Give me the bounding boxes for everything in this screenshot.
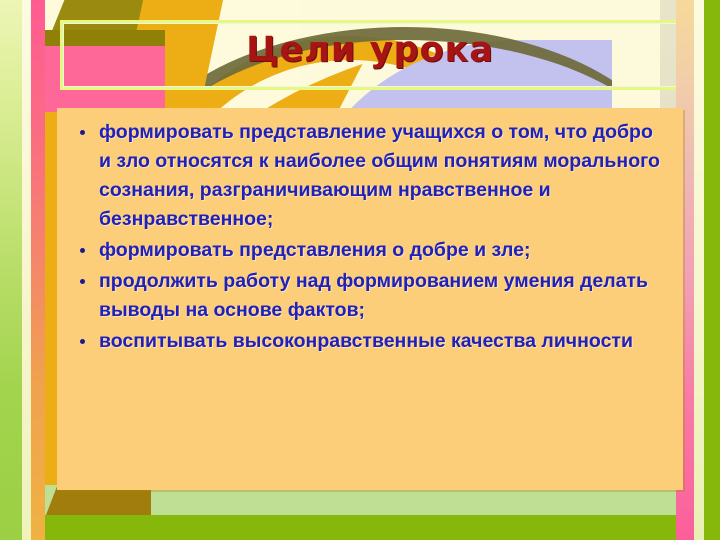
- slide-canvas: Цели урока формировать представление уча…: [0, 0, 720, 540]
- content-box: формировать представление учащихся о том…: [57, 108, 683, 490]
- border-left-green-strip: [0, 0, 22, 540]
- list-item: формировать представления о добре и зле;: [71, 236, 669, 265]
- border-right-cream-strip: [694, 0, 704, 540]
- objectives-list: формировать представление учащихся о том…: [57, 108, 683, 356]
- border-left-cream-strip: [22, 0, 31, 540]
- slide-title: Цели урока: [60, 30, 680, 70]
- decoration-dark-green-band: [0, 515, 704, 540]
- border-right-green-strip: [704, 0, 720, 540]
- border-left-pink-strip: [31, 0, 45, 540]
- list-item: воспитывать высоконравственные качества …: [71, 327, 669, 356]
- list-item: формировать представление учащихся о том…: [71, 118, 669, 234]
- list-item: продолжить работу над формированием умен…: [71, 267, 669, 325]
